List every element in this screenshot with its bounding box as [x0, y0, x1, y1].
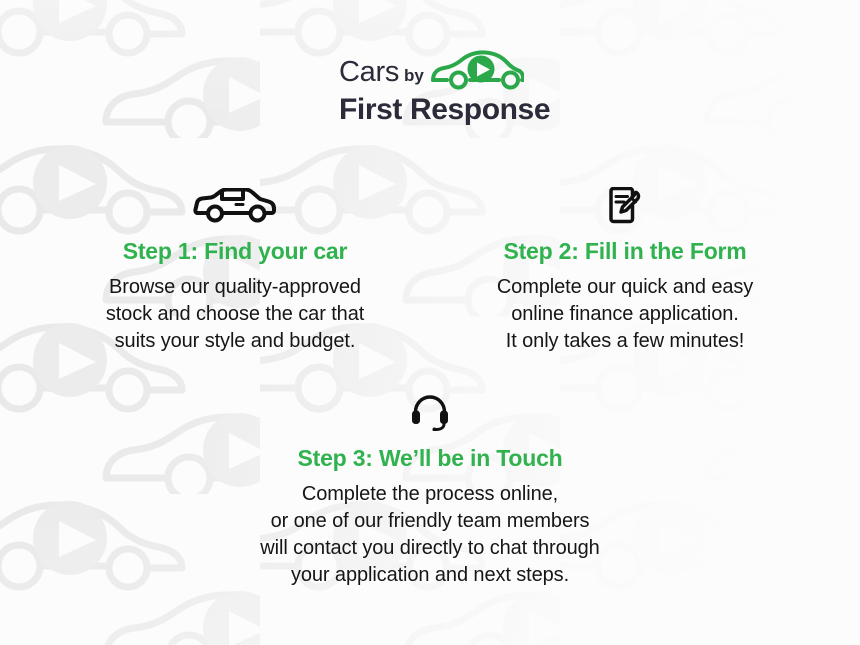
form-pencil-icon — [425, 186, 825, 224]
step-3-line-2: or one of our friendly team members — [180, 508, 680, 535]
step-3-line-3: will contact you directly to chat throug… — [180, 535, 680, 562]
step-3-body: Complete the process online, or one of o… — [180, 481, 680, 589]
step-2-line-2: online finance application. — [425, 301, 825, 328]
step-1-line-1: Browse our quality-approved — [35, 274, 435, 301]
brand-logo: Cars by — [339, 58, 521, 128]
step-card-3: Step 3: We’ll be in Touch Complete the p… — [180, 393, 680, 589]
step-2-body: Complete our quick and easy online finan… — [425, 274, 825, 355]
step-1-body: Browse our quality-approved stock and ch… — [35, 274, 435, 355]
step-3-title: Step 3: We’ll be in Touch — [180, 445, 680, 471]
logo-block: Cars by — [0, 58, 860, 128]
step-3-line-4: your application and next steps. — [180, 562, 680, 589]
step-card-1: Step 1: Find your car Browse our quality… — [35, 186, 435, 355]
logo-cars-text: Cars — [339, 58, 399, 87]
step-1-line-2: stock and choose the car that — [35, 301, 435, 328]
car-play-button-icon — [429, 50, 524, 94]
car-side-icon — [35, 186, 435, 224]
logo-line-2: First Response — [339, 94, 521, 126]
headset-icon — [180, 393, 680, 431]
logo-by-text: by — [404, 67, 424, 84]
step-2-line-1: Complete our quick and easy — [425, 274, 825, 301]
step-card-2: Step 2: Fill in the Form Complete our qu… — [425, 186, 825, 355]
step-2-line-3: It only takes a few minutes! — [425, 328, 825, 355]
step-2-title: Step 2: Fill in the Form — [425, 238, 825, 264]
logo-line-1: Cars by — [339, 58, 521, 90]
poster-content: Cars by — [0, 0, 860, 645]
step-3-line-1: Complete the process online, — [180, 481, 680, 508]
promo-poster: Cars by — [0, 0, 860, 645]
step-1-line-3: suits your style and budget. — [35, 328, 435, 355]
step-1-title: Step 1: Find your car — [35, 238, 435, 264]
